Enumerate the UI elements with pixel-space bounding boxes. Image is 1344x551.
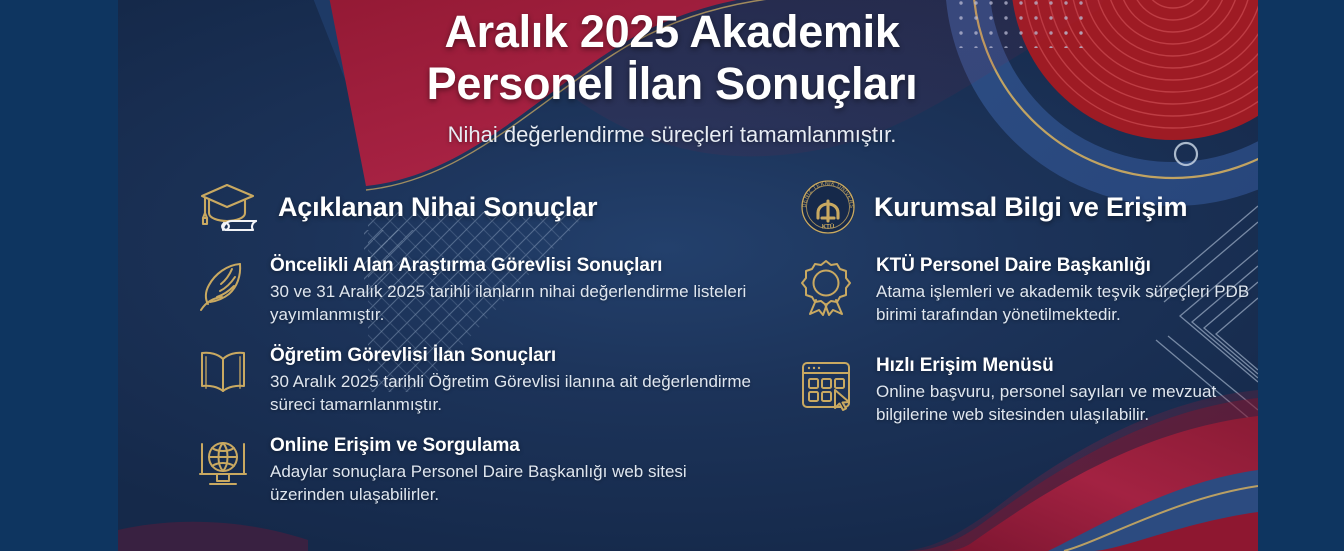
item-title: Online Erişim ve Sorgulama — [270, 434, 756, 458]
item-description: Adaylar sonuçlara Personel Daire Başkanl… — [270, 460, 756, 506]
left-column: Açıklanan Nihai Sonuçlar — [196, 178, 756, 551]
title-block: Aralık 2025 Akademik Personel İlan Sonuç… — [0, 6, 1344, 149]
item-body: Öncelikli Alan Araştırma Görevlisi Sonuç… — [270, 254, 756, 326]
item-icon-slot — [196, 434, 252, 506]
infographic-poster: Aralık 2025 Akademik Personel İlan Sonuç… — [0, 0, 1344, 551]
item-title: KTÜ Personel Daire Başkanlığı — [876, 254, 1268, 278]
page-title-line-2: Personel İlan Sonuçları — [0, 58, 1344, 110]
left-column-header: Açıklanan Nihai Sonuçlar — [196, 178, 756, 236]
list-item: Öğretim Görevlisi İlan Sonuçları 30 Aral… — [196, 344, 756, 416]
ktu-university-seal-logo: KARADENİZ TEKNİK ÜNİVERSİTESİ KTÜ — [798, 177, 858, 237]
item-description: Atama işlemleri ve akademik teşvik süreç… — [876, 280, 1268, 326]
item-icon-slot — [196, 254, 252, 326]
list-item: Hızlı Erişim Menüsü Online başvuru, pers… — [798, 354, 1268, 426]
page-title-line-1: Aralık 2025 Akademik — [0, 6, 1344, 58]
award-rosette-icon — [798, 258, 854, 316]
item-description: 30 ve 31 Aralık 2025 tarihli ilanların n… — [270, 280, 756, 326]
right-column: KARADENİZ TEKNİK ÜNİVERSİTESİ KTÜ Kurums… — [798, 178, 1268, 551]
item-body: Öğretim Görevlisi İlan Sonuçları 30 Aral… — [270, 344, 756, 416]
right-column-heading: Kurumsal Bilgi ve Erişim — [874, 192, 1187, 223]
right-column-header: KARADENİZ TEKNİK ÜNİVERSİTESİ KTÜ Kurums… — [798, 178, 1268, 236]
list-item: Öncelikli Alan Araştırma Görevlisi Sonuç… — [196, 254, 756, 326]
item-title: Öncelikli Alan Araştırma Görevlisi Sonuç… — [270, 254, 756, 278]
seal-abbreviation: KTÜ — [822, 224, 834, 231]
monitor-globe-icon — [196, 438, 250, 490]
open-book-icon — [196, 348, 250, 396]
item-body: Online Erişim ve Sorgulama Adaylar sonuç… — [270, 434, 756, 506]
item-body: KTÜ Personel Daire Başkanlığı Atama işle… — [876, 254, 1268, 326]
list-item: Online Erişim ve Sorgulama Adaylar sonuç… — [196, 434, 756, 506]
poster-content: Aralık 2025 Akademik Personel İlan Sonuç… — [0, 0, 1344, 551]
page-subtitle: Nihai değerlendirme süreçleri tamamlanmı… — [0, 121, 1344, 149]
item-icon-slot — [798, 254, 858, 326]
item-body: Hızlı Erişim Menüsü Online başvuru, pers… — [876, 354, 1268, 426]
item-icon-slot — [798, 354, 858, 426]
item-description: Online başvuru, personel sayıları ve mev… — [876, 380, 1268, 426]
list-item: KTÜ Personel Daire Başkanlığı Atama işle… — [798, 254, 1268, 326]
item-description: 30 Aralık 2025 tarihli Öğretim Görevlisi… — [270, 370, 756, 416]
columns-wrapper: Açıklanan Nihai Sonuçlar — [0, 178, 1344, 551]
quill-feather-icon — [196, 258, 248, 314]
left-column-heading: Açıklanan Nihai Sonuçlar — [278, 192, 597, 223]
item-title: Öğretim Görevlisi İlan Sonuçları — [270, 344, 756, 368]
item-title: Hızlı Erişim Menüsü — [876, 354, 1268, 378]
browser-grid-cursor-icon — [798, 358, 854, 412]
item-icon-slot — [196, 344, 252, 416]
graduation-cap-diploma-icon — [196, 180, 262, 234]
